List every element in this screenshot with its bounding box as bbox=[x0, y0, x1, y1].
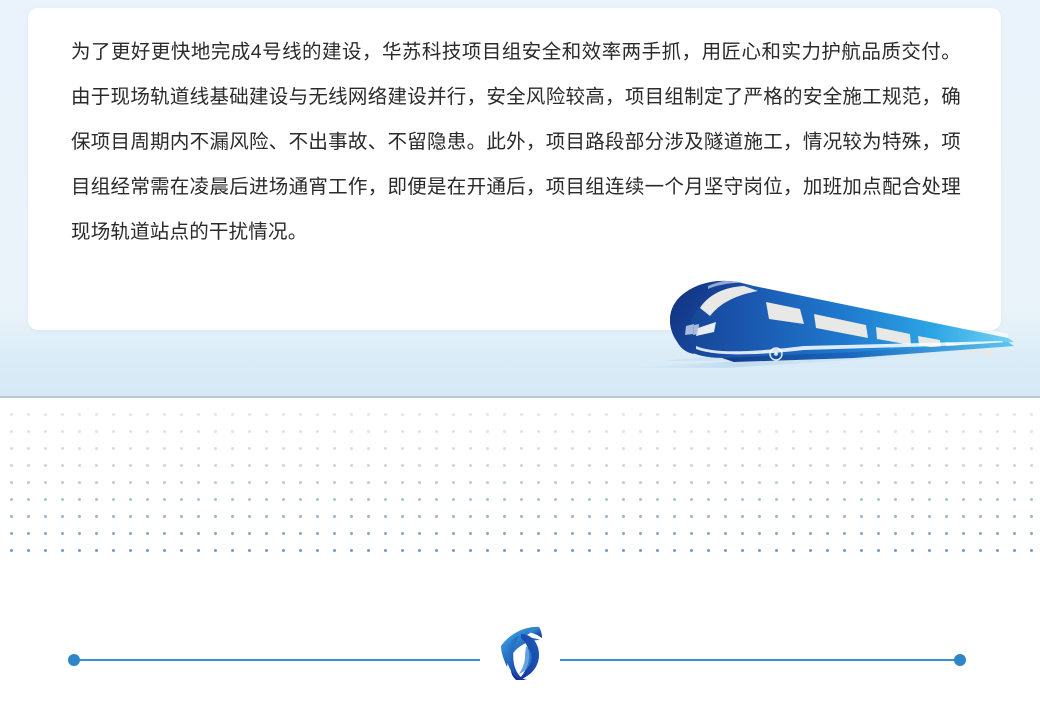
dot bbox=[894, 515, 897, 518]
dot bbox=[826, 549, 829, 552]
footer-rule-left bbox=[80, 659, 480, 661]
dot bbox=[27, 413, 30, 416]
dot bbox=[129, 430, 132, 433]
dot bbox=[180, 430, 183, 433]
dot bbox=[1030, 481, 1033, 484]
dot bbox=[129, 481, 132, 484]
dot bbox=[537, 515, 540, 518]
dot bbox=[605, 430, 608, 433]
dot bbox=[690, 549, 693, 552]
dot bbox=[197, 515, 200, 518]
dot bbox=[945, 430, 948, 433]
dot bbox=[1013, 430, 1016, 433]
dot bbox=[741, 413, 744, 416]
dot bbox=[10, 515, 13, 518]
dot bbox=[350, 515, 353, 518]
dot bbox=[299, 464, 302, 467]
dot bbox=[367, 413, 370, 416]
dot bbox=[384, 447, 387, 450]
dot bbox=[469, 549, 472, 552]
dot bbox=[979, 532, 982, 535]
dot bbox=[707, 464, 710, 467]
dot bbox=[775, 549, 778, 552]
dot bbox=[146, 481, 149, 484]
dot bbox=[333, 532, 336, 535]
dot bbox=[962, 515, 965, 518]
dot bbox=[877, 464, 880, 467]
dot bbox=[146, 498, 149, 501]
dot bbox=[1013, 464, 1016, 467]
dot bbox=[962, 498, 965, 501]
dot bbox=[95, 515, 98, 518]
dot bbox=[418, 447, 421, 450]
dot bbox=[911, 447, 914, 450]
dot bbox=[962, 413, 965, 416]
dot bbox=[214, 498, 217, 501]
dot bbox=[282, 447, 285, 450]
dot bbox=[503, 464, 506, 467]
dot bbox=[775, 464, 778, 467]
dot bbox=[724, 464, 727, 467]
dot bbox=[639, 430, 642, 433]
dot bbox=[1030, 549, 1033, 552]
dot-row bbox=[0, 549, 1040, 566]
dot bbox=[588, 464, 591, 467]
dot bbox=[129, 413, 132, 416]
dot bbox=[163, 532, 166, 535]
dot bbox=[758, 532, 761, 535]
dot bbox=[418, 481, 421, 484]
dot bbox=[163, 464, 166, 467]
dot bbox=[78, 481, 81, 484]
dot bbox=[741, 447, 744, 450]
dot bbox=[911, 532, 914, 535]
dot bbox=[401, 447, 404, 450]
dot bbox=[622, 532, 625, 535]
dot bbox=[78, 532, 81, 535]
dot bbox=[146, 515, 149, 518]
dot bbox=[843, 481, 846, 484]
dot bbox=[758, 430, 761, 433]
dot bbox=[1030, 464, 1033, 467]
dot bbox=[435, 413, 438, 416]
dot bbox=[877, 430, 880, 433]
dot bbox=[95, 549, 98, 552]
dot bbox=[265, 498, 268, 501]
dot bbox=[690, 498, 693, 501]
dot bbox=[520, 430, 523, 433]
dot bbox=[401, 481, 404, 484]
dot bbox=[350, 464, 353, 467]
dot bbox=[231, 549, 234, 552]
dot bbox=[877, 413, 880, 416]
dot bbox=[724, 430, 727, 433]
dot bbox=[44, 481, 47, 484]
dot bbox=[452, 481, 455, 484]
dot bbox=[214, 481, 217, 484]
dot bbox=[962, 481, 965, 484]
dot bbox=[996, 447, 999, 450]
dot bbox=[95, 481, 98, 484]
dot bbox=[979, 481, 982, 484]
dot bbox=[146, 464, 149, 467]
dot bbox=[265, 515, 268, 518]
dot bbox=[248, 549, 251, 552]
dot bbox=[112, 481, 115, 484]
dot bbox=[690, 515, 693, 518]
dot bbox=[928, 464, 931, 467]
dot bbox=[112, 464, 115, 467]
dot bbox=[605, 481, 608, 484]
dot bbox=[367, 515, 370, 518]
dot bbox=[350, 430, 353, 433]
dot bbox=[486, 532, 489, 535]
dot bbox=[724, 549, 727, 552]
dot bbox=[333, 447, 336, 450]
dot bbox=[792, 464, 795, 467]
dot bbox=[877, 515, 880, 518]
dot bbox=[911, 481, 914, 484]
dot bbox=[44, 498, 47, 501]
dot bbox=[724, 413, 727, 416]
dot bbox=[418, 464, 421, 467]
dot bbox=[605, 515, 608, 518]
dot bbox=[248, 515, 251, 518]
dot bbox=[163, 498, 166, 501]
dot bbox=[928, 447, 931, 450]
dot bbox=[843, 447, 846, 450]
dot bbox=[656, 515, 659, 518]
dot bbox=[384, 413, 387, 416]
dot bbox=[588, 447, 591, 450]
dot bbox=[741, 515, 744, 518]
dot bbox=[95, 430, 98, 433]
dot bbox=[333, 498, 336, 501]
dot bbox=[367, 447, 370, 450]
dot bbox=[758, 447, 761, 450]
dot bbox=[809, 498, 812, 501]
dot bbox=[435, 430, 438, 433]
dot bbox=[826, 481, 829, 484]
dot bbox=[486, 498, 489, 501]
dot bbox=[180, 549, 183, 552]
dot bbox=[894, 481, 897, 484]
dot bbox=[571, 532, 574, 535]
dot bbox=[180, 413, 183, 416]
dot bbox=[282, 430, 285, 433]
dot bbox=[707, 549, 710, 552]
dot bbox=[180, 532, 183, 535]
dot bbox=[95, 464, 98, 467]
dot bbox=[843, 430, 846, 433]
dot bbox=[350, 549, 353, 552]
dot bbox=[554, 447, 557, 450]
dot bbox=[996, 430, 999, 433]
dot bbox=[945, 447, 948, 450]
dot bbox=[605, 447, 608, 450]
dot bbox=[78, 413, 81, 416]
dot-row bbox=[0, 430, 1040, 447]
dot bbox=[180, 515, 183, 518]
dot bbox=[401, 532, 404, 535]
dot bbox=[163, 447, 166, 450]
dot bbox=[146, 532, 149, 535]
dot bbox=[401, 515, 404, 518]
dot bbox=[962, 464, 965, 467]
dot bbox=[61, 532, 64, 535]
dot bbox=[792, 447, 795, 450]
dot bbox=[146, 430, 149, 433]
dot bbox=[928, 515, 931, 518]
dot bbox=[911, 515, 914, 518]
dot bbox=[367, 532, 370, 535]
dot bbox=[588, 413, 591, 416]
dot bbox=[622, 430, 625, 433]
dot bbox=[197, 464, 200, 467]
dot bbox=[231, 481, 234, 484]
dot-row bbox=[0, 498, 1040, 515]
dot bbox=[622, 447, 625, 450]
dot bbox=[996, 515, 999, 518]
dot bbox=[537, 532, 540, 535]
dot bbox=[690, 532, 693, 535]
dot bbox=[503, 413, 506, 416]
dot bbox=[282, 532, 285, 535]
dot bbox=[95, 498, 98, 501]
dot bbox=[639, 498, 642, 501]
dot bbox=[265, 464, 268, 467]
dot bbox=[61, 447, 64, 450]
dot bbox=[316, 515, 319, 518]
dot bbox=[10, 413, 13, 416]
dot bbox=[316, 532, 319, 535]
dot bbox=[860, 413, 863, 416]
dot bbox=[537, 447, 540, 450]
dot bbox=[724, 498, 727, 501]
dot bbox=[316, 447, 319, 450]
dot bbox=[27, 532, 30, 535]
dot bbox=[384, 481, 387, 484]
dot bbox=[78, 464, 81, 467]
dot bbox=[1013, 413, 1016, 416]
dot bbox=[673, 532, 676, 535]
dot bbox=[809, 464, 812, 467]
dot bbox=[894, 430, 897, 433]
dot bbox=[27, 549, 30, 552]
dot bbox=[112, 447, 115, 450]
dot bbox=[945, 515, 948, 518]
dot bbox=[452, 413, 455, 416]
dot bbox=[282, 498, 285, 501]
dot bbox=[741, 498, 744, 501]
dot bbox=[214, 549, 217, 552]
dot bbox=[639, 447, 642, 450]
dot bbox=[435, 498, 438, 501]
dot bbox=[282, 515, 285, 518]
dot bbox=[996, 464, 999, 467]
dot bbox=[401, 498, 404, 501]
dot bbox=[350, 498, 353, 501]
dot bbox=[10, 447, 13, 450]
dot bbox=[945, 532, 948, 535]
dot bbox=[843, 498, 846, 501]
dot bbox=[894, 549, 897, 552]
dot bbox=[996, 481, 999, 484]
dot bbox=[112, 413, 115, 416]
dot bbox=[384, 549, 387, 552]
dot bbox=[622, 413, 625, 416]
dot bbox=[588, 498, 591, 501]
dot bbox=[860, 464, 863, 467]
dot bbox=[707, 532, 710, 535]
dot bbox=[860, 498, 863, 501]
dot bbox=[520, 413, 523, 416]
dot bbox=[61, 515, 64, 518]
dot bbox=[826, 515, 829, 518]
dot-grid-pattern bbox=[0, 399, 1040, 559]
dot bbox=[44, 464, 47, 467]
dot bbox=[299, 515, 302, 518]
dot bbox=[299, 430, 302, 433]
dot bbox=[180, 498, 183, 501]
dot bbox=[333, 413, 336, 416]
dot bbox=[486, 447, 489, 450]
dot bbox=[44, 549, 47, 552]
dot bbox=[554, 464, 557, 467]
dot bbox=[61, 498, 64, 501]
dot bbox=[61, 430, 64, 433]
dot bbox=[928, 549, 931, 552]
dot bbox=[78, 447, 81, 450]
dot bbox=[707, 447, 710, 450]
dot bbox=[44, 515, 47, 518]
dot bbox=[163, 515, 166, 518]
dot bbox=[809, 532, 812, 535]
dot bbox=[248, 481, 251, 484]
dot bbox=[27, 498, 30, 501]
dot bbox=[44, 430, 47, 433]
dot bbox=[843, 549, 846, 552]
dot bbox=[979, 413, 982, 416]
dot bbox=[775, 447, 778, 450]
dot bbox=[129, 515, 132, 518]
dot bbox=[520, 447, 523, 450]
dot bbox=[486, 515, 489, 518]
dot bbox=[452, 498, 455, 501]
dot bbox=[61, 413, 64, 416]
dot bbox=[418, 515, 421, 518]
dot bbox=[809, 549, 812, 552]
dot bbox=[503, 515, 506, 518]
dot bbox=[61, 464, 64, 467]
dot bbox=[860, 549, 863, 552]
dot bbox=[979, 549, 982, 552]
dot bbox=[401, 413, 404, 416]
dot bbox=[928, 481, 931, 484]
dot bbox=[826, 413, 829, 416]
dot bbox=[945, 481, 948, 484]
dot bbox=[231, 464, 234, 467]
dot bbox=[792, 498, 795, 501]
dot bbox=[979, 447, 982, 450]
dot bbox=[1030, 498, 1033, 501]
dot bbox=[486, 549, 489, 552]
dot bbox=[622, 498, 625, 501]
dot bbox=[894, 498, 897, 501]
dot bbox=[724, 447, 727, 450]
dot bbox=[571, 515, 574, 518]
dot bbox=[826, 447, 829, 450]
dot bbox=[520, 498, 523, 501]
dot bbox=[248, 532, 251, 535]
dot bbox=[979, 498, 982, 501]
dot bbox=[537, 464, 540, 467]
dot bbox=[605, 464, 608, 467]
dot bbox=[469, 430, 472, 433]
dot bbox=[877, 481, 880, 484]
dot bbox=[316, 549, 319, 552]
dot bbox=[707, 430, 710, 433]
dot bbox=[758, 498, 761, 501]
dot bbox=[350, 532, 353, 535]
dot bbox=[435, 447, 438, 450]
dot bbox=[537, 549, 540, 552]
dot bbox=[197, 447, 200, 450]
dot bbox=[333, 464, 336, 467]
dot bbox=[826, 498, 829, 501]
dot bbox=[299, 447, 302, 450]
dot bbox=[690, 413, 693, 416]
dot bbox=[571, 464, 574, 467]
dot bbox=[486, 413, 489, 416]
dot bbox=[1013, 447, 1016, 450]
dot bbox=[401, 464, 404, 467]
dot bbox=[367, 464, 370, 467]
dot bbox=[486, 464, 489, 467]
dot bbox=[27, 515, 30, 518]
dot bbox=[248, 413, 251, 416]
dot bbox=[928, 430, 931, 433]
dot bbox=[707, 481, 710, 484]
dot bbox=[27, 430, 30, 433]
dot bbox=[520, 481, 523, 484]
dot bbox=[469, 532, 472, 535]
dot bbox=[299, 481, 302, 484]
dot bbox=[826, 532, 829, 535]
dot bbox=[469, 464, 472, 467]
dot-row bbox=[0, 413, 1040, 430]
dot bbox=[945, 549, 948, 552]
dot bbox=[10, 430, 13, 433]
dot bbox=[537, 413, 540, 416]
dot bbox=[894, 464, 897, 467]
dot bbox=[826, 464, 829, 467]
dot bbox=[299, 498, 302, 501]
dot bbox=[690, 464, 693, 467]
dot bbox=[554, 532, 557, 535]
dot bbox=[673, 430, 676, 433]
dot bbox=[962, 532, 965, 535]
dot bbox=[945, 498, 948, 501]
dot-row bbox=[0, 464, 1040, 481]
dot bbox=[265, 430, 268, 433]
dot bbox=[384, 515, 387, 518]
dot bbox=[316, 413, 319, 416]
dot bbox=[843, 532, 846, 535]
dot bbox=[656, 481, 659, 484]
dot bbox=[333, 515, 336, 518]
footer-rule-right bbox=[560, 659, 960, 661]
